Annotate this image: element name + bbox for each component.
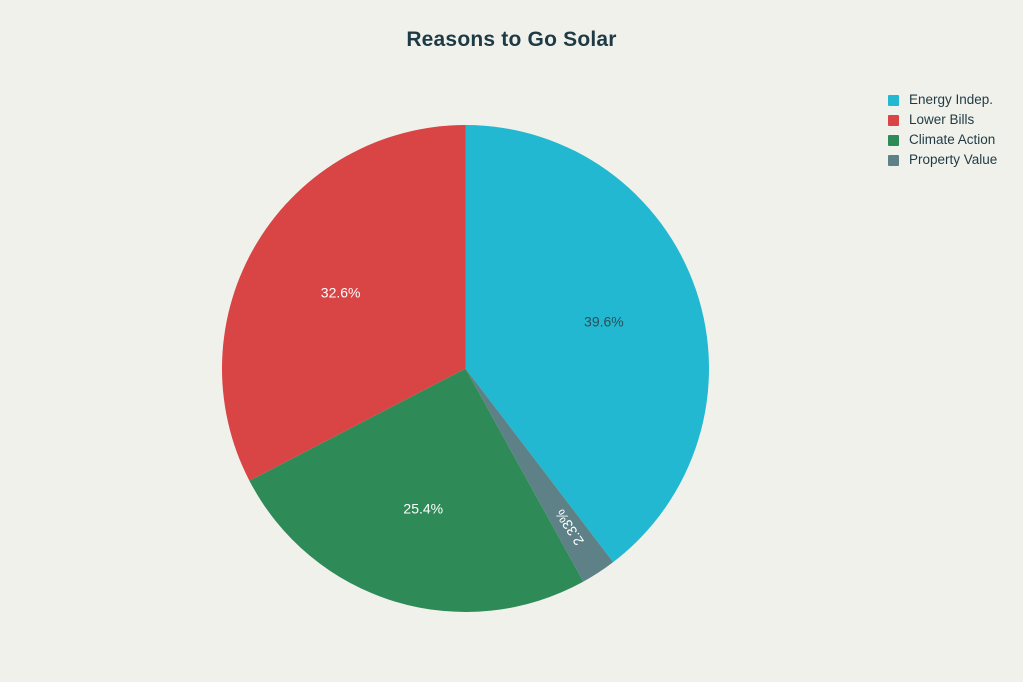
legend-item[interactable]: Energy Indep. [888, 90, 1020, 110]
pie-slices-group [222, 125, 709, 612]
pie-chart-canvas: 39.6%2.33%25.4%32.6% [0, 0, 1023, 682]
legend-item-label: Lower Bills [909, 110, 974, 130]
legend-swatch-icon [888, 115, 899, 126]
legend-swatch-icon [888, 155, 899, 166]
legend-item-label: Energy Indep. [909, 90, 993, 110]
legend-item-label: Climate Action [909, 130, 995, 150]
pie-slice-percent-label: 25.4% [403, 500, 443, 516]
legend: Energy Indep.Lower BillsClimate ActionPr… [888, 90, 1020, 170]
legend-swatch-icon [888, 135, 899, 146]
pie-slice-percent-label: 39.6% [584, 314, 624, 330]
pie-chart-figure: Reasons to Go Solar 39.6%2.33%25.4%32.6%… [0, 0, 1023, 682]
legend-item[interactable]: Lower Bills [888, 110, 1020, 130]
legend-item[interactable]: Property Value [888, 150, 1020, 170]
legend-swatch-icon [888, 95, 899, 106]
legend-item-label: Property Value [909, 150, 997, 170]
pie-slice-percent-label: 32.6% [321, 285, 361, 301]
legend-item[interactable]: Climate Action [888, 130, 1020, 150]
